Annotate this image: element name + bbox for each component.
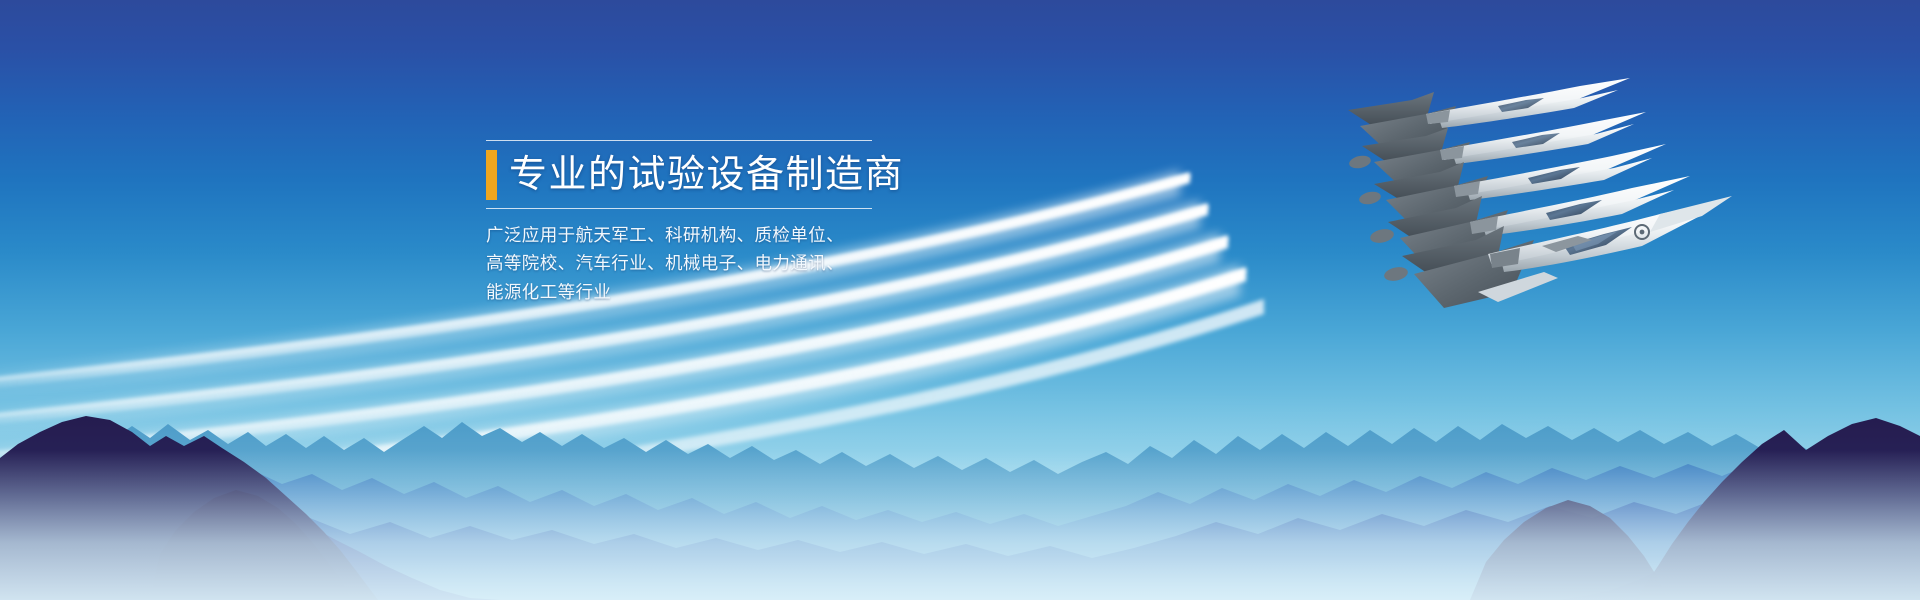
- divider-line-top: [486, 140, 872, 141]
- hero-copy-block: 专业的试验设备制造商 广泛应用于航天军工、科研机构、质检单位、 高等院校、汽车行…: [486, 140, 886, 306]
- subtitle-text: 广泛应用于航天军工、科研机构、质检单位、 高等院校、汽车行业、机械电子、电力通讯…: [486, 221, 886, 306]
- subtitle-line-2: 高等院校、汽车行业、机械电子、电力通讯、: [486, 249, 886, 277]
- mountain-range-layer: [0, 340, 1920, 600]
- subtitle-line-3: 能源化工等行业: [486, 278, 886, 306]
- fighter-jet-formation: [1340, 40, 1860, 310]
- accent-bar-icon: [486, 150, 497, 200]
- divider-line-bottom: [486, 208, 872, 209]
- headline-row: 专业的试验设备制造商: [486, 150, 886, 200]
- page-title: 专业的试验设备制造商: [509, 156, 904, 194]
- subtitle-line-1: 广泛应用于航天军工、科研机构、质检单位、: [486, 221, 886, 249]
- hero-banner: 专业的试验设备制造商 广泛应用于航天军工、科研机构、质检单位、 高等院校、汽车行…: [0, 0, 1920, 600]
